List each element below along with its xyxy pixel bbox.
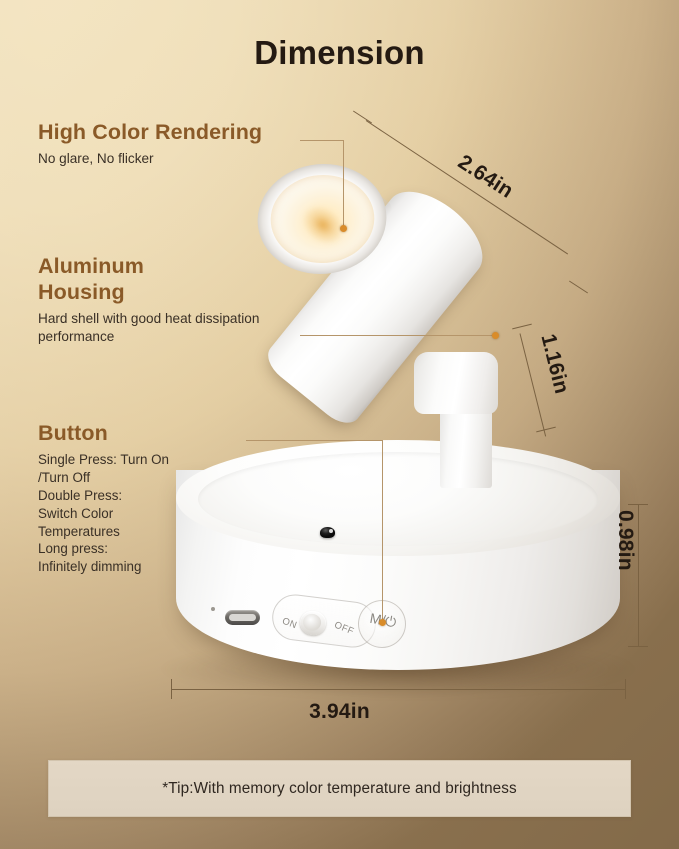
annotation-heading: Button bbox=[38, 420, 253, 446]
leader-line-aluminum-housing bbox=[300, 335, 496, 336]
annotation-button: Button Single Press: Turn On /Turn Off D… bbox=[38, 420, 253, 576]
annotation-heading: High Color Rendering bbox=[38, 119, 308, 145]
dimension-label-base-diameter: 3.94in bbox=[0, 700, 679, 724]
dimension-tick-base-diameter-left bbox=[171, 679, 172, 699]
leader-line-button bbox=[246, 440, 383, 441]
annotation-body: Single Press: Turn On /Turn Off Double P… bbox=[38, 451, 253, 576]
dimension-line-base-diameter bbox=[171, 689, 626, 690]
annotation-body: Hard shell with good heat dissipation pe… bbox=[38, 310, 300, 346]
annotation-heading: Aluminum Housing bbox=[38, 253, 300, 305]
leader-dot-high-color-rendering bbox=[340, 225, 347, 232]
infographic-canvas: Dimension ON OFF M/⏻ bbox=[0, 0, 679, 849]
dimension-label-base-height: 0.98in bbox=[613, 510, 637, 571]
tip-text: *Tip:With memory color temperature and b… bbox=[162, 780, 517, 798]
dimension-tick-base-height-bottom bbox=[628, 646, 648, 647]
annotation-aluminum-housing: Aluminum Housing Hard shell with good he… bbox=[38, 253, 300, 346]
dimension-tick-base-diameter-right bbox=[625, 679, 626, 699]
dimension-line-base-height bbox=[638, 504, 639, 646]
leader-line-button-drop bbox=[382, 440, 383, 625]
leader-dot-aluminum-housing bbox=[492, 332, 499, 339]
lamp-base-top-inset bbox=[198, 452, 598, 546]
leader-dot-button bbox=[379, 619, 386, 626]
dimension-tick-base-height-top bbox=[628, 504, 648, 505]
leader-line-high-color-rendering-drop bbox=[343, 140, 344, 228]
charge-indicator-led bbox=[211, 607, 215, 611]
tip-banner: *Tip:With memory color temperature and b… bbox=[48, 760, 631, 817]
annotation-high-color-rendering: High Color Rendering No glare, No flicke… bbox=[38, 119, 308, 168]
annotation-body: No glare, No flicker bbox=[38, 150, 308, 168]
usb-c-port-icon[interactable] bbox=[225, 610, 260, 625]
base-top-sensor-dot bbox=[320, 527, 335, 538]
